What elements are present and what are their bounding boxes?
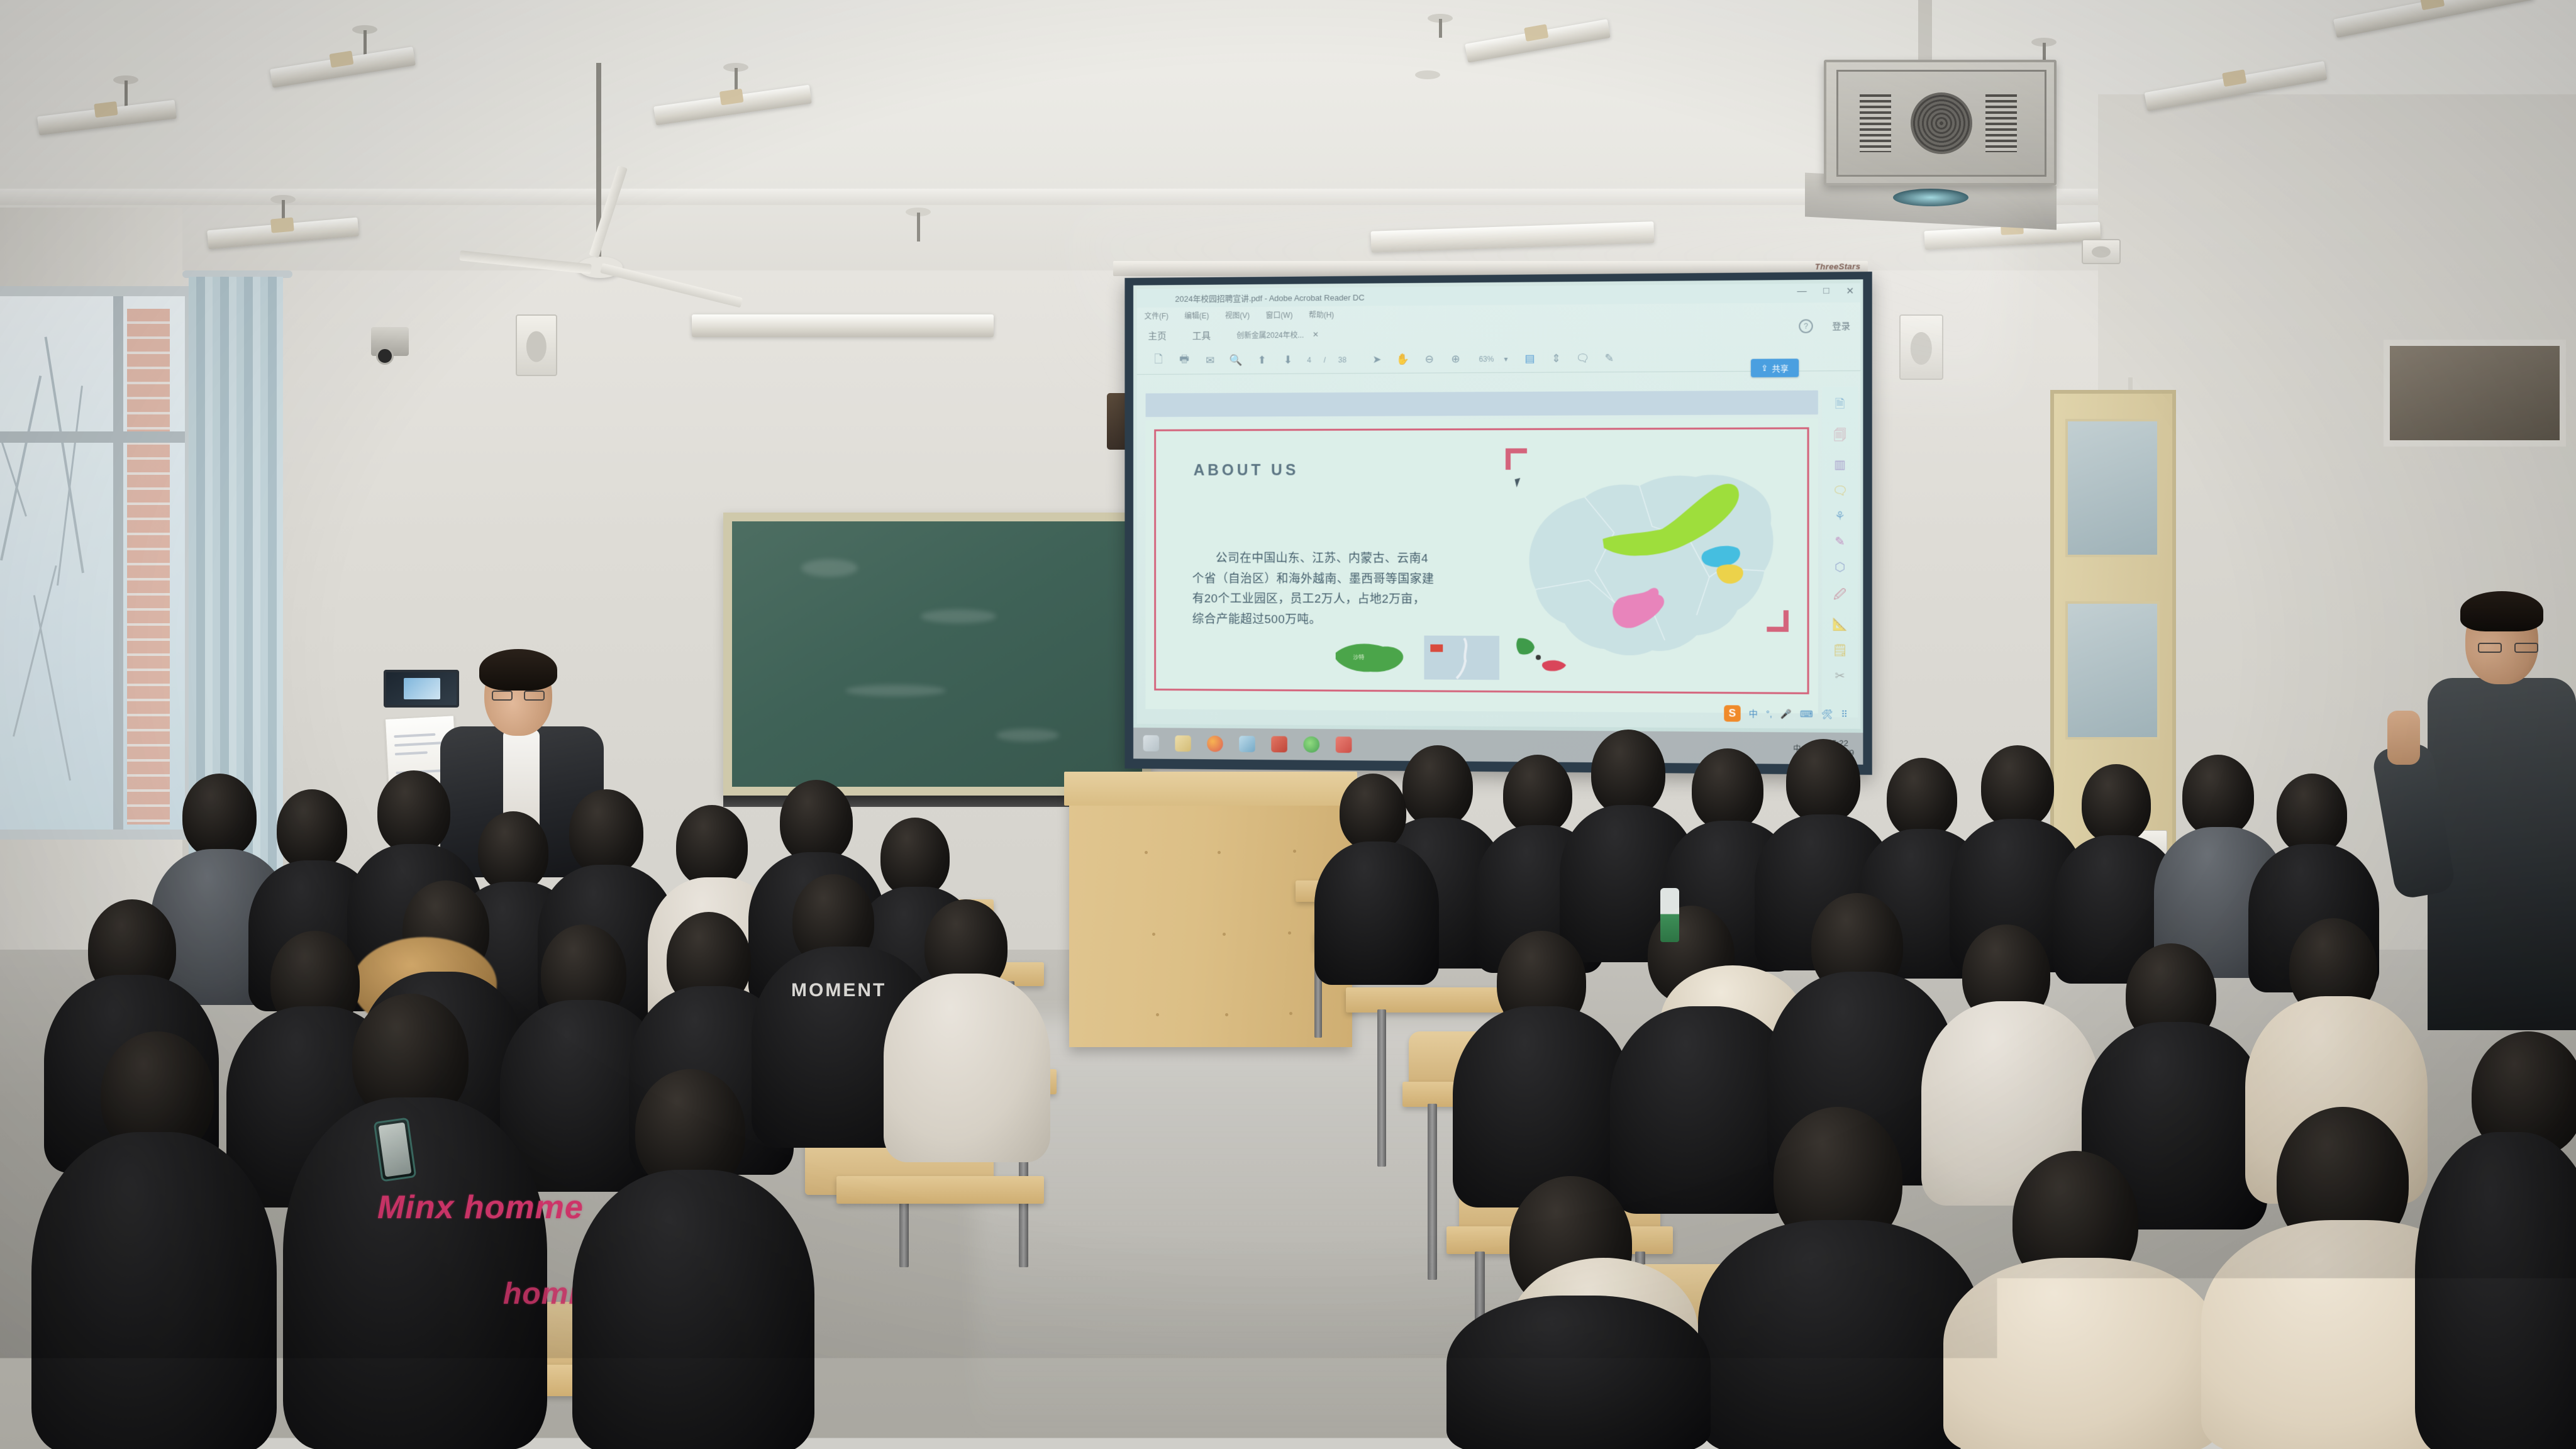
red-app-icon[interactable] (1336, 736, 1352, 753)
fill-sign-icon[interactable]: 🖉 (1833, 586, 1846, 606)
student-head (1692, 748, 1763, 830)
ime-chinese-icon[interactable]: 中 (1749, 708, 1758, 720)
student-head (1887, 758, 1957, 838)
vent-icon (1985, 94, 2017, 152)
desk-leg (1377, 1009, 1386, 1167)
student-head (1340, 774, 1406, 850)
comment-icon[interactable]: 🗨 (1570, 349, 1596, 368)
student-head (880, 818, 950, 897)
menu-edit[interactable]: 编辑(E) (1184, 310, 1209, 321)
av-control-panel[interactable] (384, 670, 459, 708)
student-head (1591, 730, 1665, 815)
green-chalkboard (723, 513, 1151, 796)
student-torso (884, 974, 1050, 1162)
classroom-scene: ThreeStars 2024年校园招聘宣讲.pdf - Adobe Acrob… (0, 0, 2576, 1449)
student-torso (2415, 1132, 2576, 1449)
screen-brand-label: ThreeStars (1815, 262, 1860, 272)
pdf-page[interactable]: ABOUT US 公司在中国山东、江苏、内蒙古、云南4个省（自治区）和海外越南、… (1146, 418, 1818, 713)
hand-icon[interactable]: ✋ (1390, 350, 1416, 369)
presenter-glasses (492, 691, 545, 701)
ime-more-icon[interactable]: ⠿ (1841, 709, 1847, 719)
export-pdf-icon[interactable]: 🗎 (1835, 396, 1845, 416)
student-head (2082, 764, 2151, 843)
prev-page-icon[interactable]: ⬆ (1249, 351, 1275, 370)
slide-heading: ABOUT US (1194, 462, 1299, 480)
svg-text:沙特: 沙特 (1353, 653, 1364, 660)
email-icon[interactable]: ✉ (1197, 351, 1223, 370)
projector-cage (1824, 60, 2057, 186)
edit-pdf-icon[interactable]: ✎ (1835, 535, 1845, 549)
select-icon[interactable]: ➤ (1364, 350, 1391, 369)
ime-toolbox-icon[interactable]: 🛠 (1821, 709, 1833, 719)
exterior-brick-wall (127, 309, 170, 824)
wooden-lectern (1069, 783, 1352, 1047)
student-head (1786, 739, 1860, 823)
ime-voice-icon[interactable]: 🎤 (1780, 708, 1792, 719)
page-current[interactable]: 4 (1307, 355, 1311, 364)
menu-file[interactable]: 文件(F) (1145, 310, 1169, 321)
tab-home[interactable]: 主页 (1148, 329, 1166, 342)
student-torso (283, 1097, 547, 1449)
organize-pages-icon[interactable]: ▥ (1834, 458, 1845, 472)
light-rod (1439, 19, 1442, 38)
sogou-ime-bar[interactable]: S 中 °, 🎤 ⌨ 🛠 ⠿ (1724, 705, 1848, 723)
menu-view[interactable]: 视图(V) (1225, 309, 1250, 320)
slide-body-text: 公司在中国山东、江苏、内蒙古、云南4个省（自治区）和海外越南、墨西哥等国家建有2… (1192, 549, 1435, 631)
acrobat-window: 2024年校园招聘宣讲.pdf - Adobe Acrobat Reader D… (1137, 283, 1860, 729)
ceiling-mount (1415, 70, 1440, 79)
highlight-icon[interactable]: ✎ (1596, 348, 1623, 367)
menu-help[interactable]: 帮助(H) (1309, 309, 1334, 319)
student-head (1503, 755, 1572, 834)
zoom-out-icon[interactable]: ⊖ (1416, 350, 1443, 369)
wall-speaker (516, 314, 557, 376)
chevron-down-icon[interactable]: ▾ (1504, 354, 1507, 363)
document-toolbar-band (1146, 391, 1818, 417)
student-head (676, 805, 748, 887)
map-saudi (1336, 643, 1404, 672)
search-icon[interactable]: 🔍 (1223, 351, 1249, 370)
student-head (780, 780, 853, 863)
flag-vietnam (1430, 645, 1443, 652)
blue-app-icon[interactable] (1239, 736, 1255, 752)
jacket-graphic-minx-homme: Minx homme (377, 1189, 584, 1226)
zoom-level[interactable]: 63% (1479, 354, 1494, 363)
projected-desktop: 2024年校园招聘宣讲.pdf - Adobe Acrobat Reader D… (1133, 279, 1863, 765)
student-head (377, 770, 450, 853)
tab-document[interactable]: 创新金属2024年校... ✕ (1236, 329, 1319, 340)
photographer-hand (2387, 711, 2420, 765)
optimize-pdf-icon[interactable]: ✂ (1835, 669, 1845, 684)
close-button[interactable]: ✕ (1846, 285, 1854, 296)
maximize-button[interactable]: □ (1823, 286, 1829, 297)
overseas-maps: 沙特 (1331, 634, 1600, 683)
zoom-in-icon[interactable]: ⊕ (1443, 350, 1469, 369)
desk (836, 1176, 1044, 1204)
student-torso (31, 1132, 277, 1449)
student-torso (1453, 1006, 1632, 1207)
ime-punct-icon[interactable]: °, (1766, 709, 1772, 719)
student-torso (1446, 1296, 1711, 1449)
combine-files-icon[interactable]: ⚘ (1835, 509, 1845, 524)
map-mexico-south (1542, 660, 1566, 671)
window-title: 2024年校园招聘宣讲.pdf - Adobe Acrobat Reader D… (1175, 291, 1364, 304)
student-torso (1314, 841, 1439, 985)
photographer-hair (2460, 591, 2543, 631)
menu-window[interactable]: 窗口(W) (1266, 309, 1293, 320)
door-window (2065, 419, 2160, 557)
acrobat-tools-sidebar: 🗎 🗐 ▥ 🗨 ⚘ ✎ ⬡ 🖉 📐 🗒 ✂ (1822, 386, 1858, 717)
next-page-icon[interactable]: ⬇ (1275, 350, 1301, 369)
windows-taskbar: 中 S 15:22 2025/1/9 (1133, 728, 1863, 765)
firefox-icon[interactable] (1207, 736, 1223, 752)
minimize-button[interactable]: — (1797, 286, 1807, 297)
student-head (1402, 745, 1473, 827)
close-icon[interactable]: ✕ (1313, 330, 1319, 339)
window-mullion (0, 431, 185, 443)
fluorescent-light (692, 314, 994, 337)
projector-mount-pole (1918, 0, 1932, 63)
student-head (2182, 755, 2254, 836)
powerpoint-icon[interactable] (1271, 736, 1287, 752)
light-rod (917, 213, 920, 241)
student-head (569, 789, 643, 875)
help-icon[interactable]: ? (1799, 319, 1813, 333)
protect-icon[interactable]: ⬡ (1835, 560, 1845, 575)
projector-lens (1893, 189, 1968, 206)
page-fit-icon[interactable]: ▤ (1516, 349, 1543, 368)
file-explorer-icon[interactable] (1175, 735, 1191, 752)
student-head (478, 811, 548, 892)
sogou-icon[interactable]: S (1724, 705, 1740, 721)
redact-icon[interactable]: 🗒 (1832, 643, 1848, 658)
door-window (2065, 601, 2160, 740)
student-head (277, 789, 347, 870)
comment-icon[interactable]: 🗨 (1832, 483, 1848, 498)
student-head (1981, 745, 2054, 828)
water-bottle (1660, 888, 1679, 942)
student-head (182, 774, 257, 858)
window-controls: — □ ✕ (1797, 285, 1855, 297)
wechat-icon[interactable] (1303, 736, 1319, 753)
student-head (2277, 774, 2347, 854)
projection-screen: ThreeStars 2024年校园招聘宣讲.pdf - Adobe Acrob… (1124, 272, 1872, 775)
acrobat-account-area: ? 登录 (1799, 319, 1850, 333)
create-pdf-icon[interactable]: 🗐 (1834, 426, 1846, 447)
measure-icon[interactable]: 📐 (1832, 617, 1847, 632)
scroll-mode-icon[interactable]: ⇕ (1543, 349, 1569, 368)
share-label: 共享 (1772, 362, 1788, 374)
tab-tools[interactable]: 工具 (1192, 329, 1211, 342)
student-torso (1698, 1220, 1981, 1449)
print-icon[interactable]: 🖶 (1172, 351, 1197, 370)
map-mexico-north (1516, 638, 1535, 655)
vent-icon (1860, 94, 1891, 152)
projector-cage-door[interactable] (1836, 70, 2046, 177)
student-torso (1943, 1258, 2220, 1449)
phone-screen (378, 1122, 411, 1177)
window-mullion (113, 296, 123, 830)
presenter-hair (479, 649, 557, 691)
side-window (0, 286, 195, 840)
lectern-top (1064, 772, 1357, 806)
fan-grille-icon (1911, 92, 1972, 154)
photographer-glasses (2478, 643, 2538, 653)
desk-leg (1428, 1104, 1437, 1280)
share-icon: ⇪ (1761, 363, 1768, 373)
tab-document-label: 创新金属2024年校... (1236, 330, 1304, 341)
page-separator: / (1324, 355, 1326, 364)
sign-in-button[interactable]: 登录 (1832, 319, 1850, 332)
high-window (2384, 340, 2566, 447)
jacket-graphic-moment: MOMENT (791, 980, 886, 1001)
page-total: 38 (1338, 355, 1346, 364)
wall-speaker (2082, 239, 2121, 264)
ime-keyboard-icon[interactable]: ⌨ (1800, 709, 1813, 719)
student-torso (572, 1170, 814, 1449)
share-button[interactable]: ⇪ 共享 (1751, 358, 1799, 377)
start-icon[interactable] (1143, 735, 1159, 752)
file-icon[interactable]: 🗋 (1146, 352, 1172, 370)
security-camera (371, 327, 409, 356)
